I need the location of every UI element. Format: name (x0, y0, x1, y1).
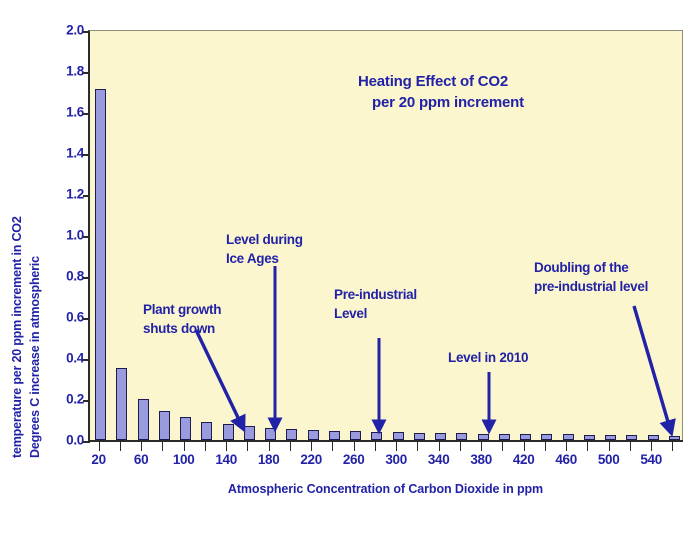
x-axis-tick-label: 20 (91, 452, 105, 467)
x-axis-tick-label: 260 (343, 452, 365, 467)
y-axis-tick-label: 0.0 (66, 433, 84, 448)
y-axis-tick-label: 1.0 (66, 228, 84, 243)
x-axis-tick (99, 442, 100, 451)
y-axis-tick-label: 0.2 (66, 392, 84, 407)
y-axis-tick (83, 154, 90, 156)
x-axis-tick (162, 442, 163, 451)
x-axis-tick (184, 442, 185, 451)
annotation-pre-industrial: Pre-industrialLevel (334, 285, 417, 323)
y-axis-tick (83, 318, 90, 320)
x-axis-tick (290, 442, 291, 451)
annotation-line: shuts down (143, 319, 221, 338)
x-axis-tick (226, 442, 227, 451)
y-axis-tick-label: 1.4 (66, 146, 84, 161)
x-axis-tick (354, 442, 355, 451)
chart-title: Heating Effect of CO2 per 20 ppm increme… (358, 71, 524, 113)
bar (159, 411, 170, 440)
x-axis-tick-label: 420 (513, 452, 535, 467)
x-axis-tick (672, 442, 673, 451)
bar (350, 431, 361, 440)
bar (223, 424, 234, 440)
annotation-line: Doubling of the (534, 260, 628, 275)
x-axis-tick (396, 442, 397, 451)
x-axis-tick-labels: 2060100140180220260300340380420460500540 (88, 452, 683, 472)
y-axis-tick (83, 195, 90, 197)
x-axis-line (88, 440, 683, 442)
bar (138, 399, 149, 440)
bar (180, 417, 191, 440)
annotation-line: Pre-industrial (334, 287, 417, 302)
plot-area: Heating Effect of CO2 per 20 ppm increme… (88, 30, 683, 440)
y-axis-tick-label: 1.2 (66, 187, 84, 202)
x-axis-tick (247, 442, 248, 451)
annotation-plant-growth: Plant growthshuts down (143, 300, 221, 338)
bar (371, 432, 382, 440)
annotation-line: Level (334, 304, 417, 323)
x-axis-tick (439, 442, 440, 451)
x-axis-tick-label: 180 (258, 452, 280, 467)
x-axis-tick (375, 442, 376, 451)
x-axis-tick-label: 300 (385, 452, 407, 467)
y-axis-tick (83, 31, 90, 33)
y-axis-tick (83, 359, 90, 361)
y-axis-tick-label: 0.8 (66, 269, 84, 284)
x-axis-tick (609, 442, 610, 451)
bar (286, 429, 297, 440)
x-axis-tick-label: 340 (428, 452, 450, 467)
x-axis-tick (566, 442, 567, 451)
annotation-doubling: Doubling of thepre-industrial level (534, 258, 648, 296)
bar (393, 432, 404, 440)
bar (414, 433, 425, 440)
y-axis-tick-label: 1.8 (66, 64, 84, 79)
x-axis-tick-label: 220 (300, 452, 322, 467)
x-axis-tick (587, 442, 588, 451)
y-axis-tick (83, 236, 90, 238)
bar (265, 428, 276, 440)
x-axis-tick-label: 140 (215, 452, 237, 467)
x-axis-tick-label: 100 (173, 452, 195, 467)
annotation-ice-ages: Level duringIce Ages (226, 230, 303, 268)
x-axis-tick (481, 442, 482, 451)
x-axis-tick (205, 442, 206, 451)
chart-title-line-1: Heating Effect of CO2 (358, 73, 508, 90)
chart-title-line-2: per 20 ppm increment (358, 92, 524, 113)
x-axis-tick (545, 442, 546, 451)
x-axis-tick-label: 540 (640, 452, 662, 467)
x-axis-tick-label: 500 (598, 452, 620, 467)
y-axis-title: Degrees C increase in atmospheric temper… (8, 18, 50, 458)
annotation-line: pre-industrial level (534, 277, 648, 296)
y-axis-tick-label: 1.6 (66, 105, 84, 120)
x-axis-tick-label: 60 (134, 452, 148, 467)
y-axis-tick (83, 277, 90, 279)
y-axis-tick-labels: 0.00.20.40.60.81.01.21.41.61.82.0 (52, 30, 84, 440)
bar (116, 368, 127, 440)
y-axis-tick-label: 2.0 (66, 23, 84, 38)
x-axis-tick (311, 442, 312, 451)
x-axis-tick (141, 442, 142, 451)
y-axis-title-line-1: Degrees C increase in atmospheric (28, 256, 42, 458)
co2-heating-effect-chart: Degrees C increase in atmospheric temper… (0, 0, 700, 536)
x-axis-tick (120, 442, 121, 451)
x-axis-tick (502, 442, 503, 451)
y-axis-tick (83, 113, 90, 115)
annotation-line: Level in 2010 (448, 350, 528, 365)
x-axis-tick (651, 442, 652, 451)
annotation-level-2010: Level in 2010 (448, 348, 528, 367)
y-axis-tick-label: 0.4 (66, 351, 84, 366)
annotation-line: Level during (226, 232, 303, 247)
annotation-line: Ice Ages (226, 249, 303, 268)
bar (95, 89, 106, 440)
y-axis-title-line-2: temperature per 20 ppm increment in CO2 (10, 216, 24, 458)
x-axis-tick (332, 442, 333, 451)
y-axis-tick-label: 0.6 (66, 310, 84, 325)
x-axis-tick (269, 442, 270, 451)
annotation-line: Plant growth (143, 302, 221, 317)
x-axis-tick-label: 380 (470, 452, 492, 467)
bar (435, 433, 446, 440)
x-axis-tick (524, 442, 525, 451)
bar (201, 422, 212, 440)
x-axis-tick-label: 460 (555, 452, 577, 467)
x-axis-tick (630, 442, 631, 451)
x-axis-title: Atmospheric Concentration of Carbon Diox… (88, 482, 683, 496)
bar (308, 430, 319, 440)
x-axis-tick (460, 442, 461, 451)
y-axis-tick (83, 400, 90, 402)
y-axis-tick (83, 72, 90, 74)
x-axis-tick (417, 442, 418, 451)
bar (244, 426, 255, 440)
bar (329, 431, 340, 440)
